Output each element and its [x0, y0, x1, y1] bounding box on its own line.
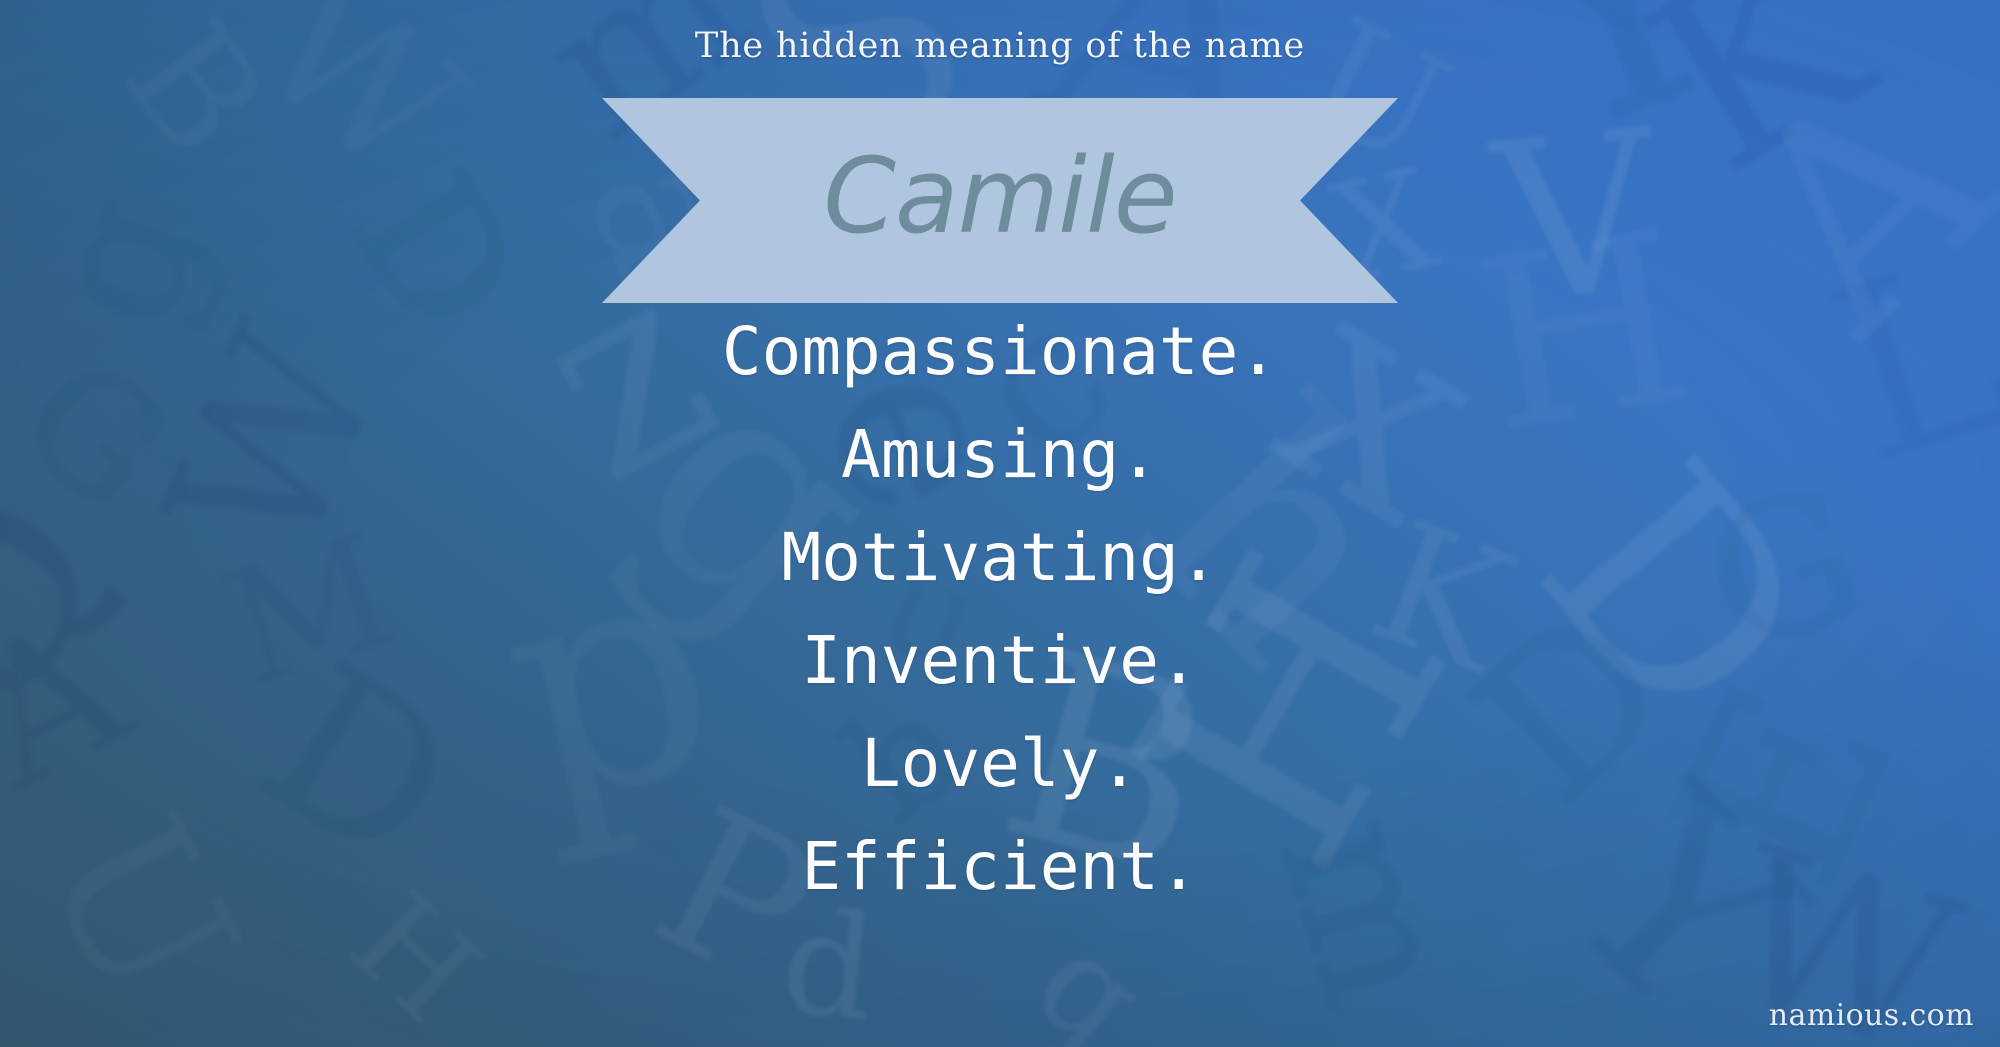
trait-item: Lovely. [0, 712, 2000, 815]
name-banner: Camile [602, 98, 1398, 303]
trait-item: Efficient. [0, 815, 2000, 918]
svg-text:q: q [1007, 903, 1174, 1047]
page-title: The hidden meaning of the name [0, 26, 2000, 66]
trait-item: Inventive. [0, 609, 2000, 712]
name-meaning-card: BWmSAUYKgDaWQXVAGWzecxHLQMguhKDGADpbBHDE… [0, 0, 2000, 1047]
trait-item: Amusing. [0, 403, 2000, 506]
trait-item: Compassionate. [0, 300, 2000, 403]
name-text: Camile [602, 98, 1398, 303]
trait-item: Motivating. [0, 506, 2000, 609]
trait-list: Compassionate. Amusing. Motivating. Inve… [0, 300, 2000, 918]
site-watermark: namious.com [1769, 998, 1974, 1033]
